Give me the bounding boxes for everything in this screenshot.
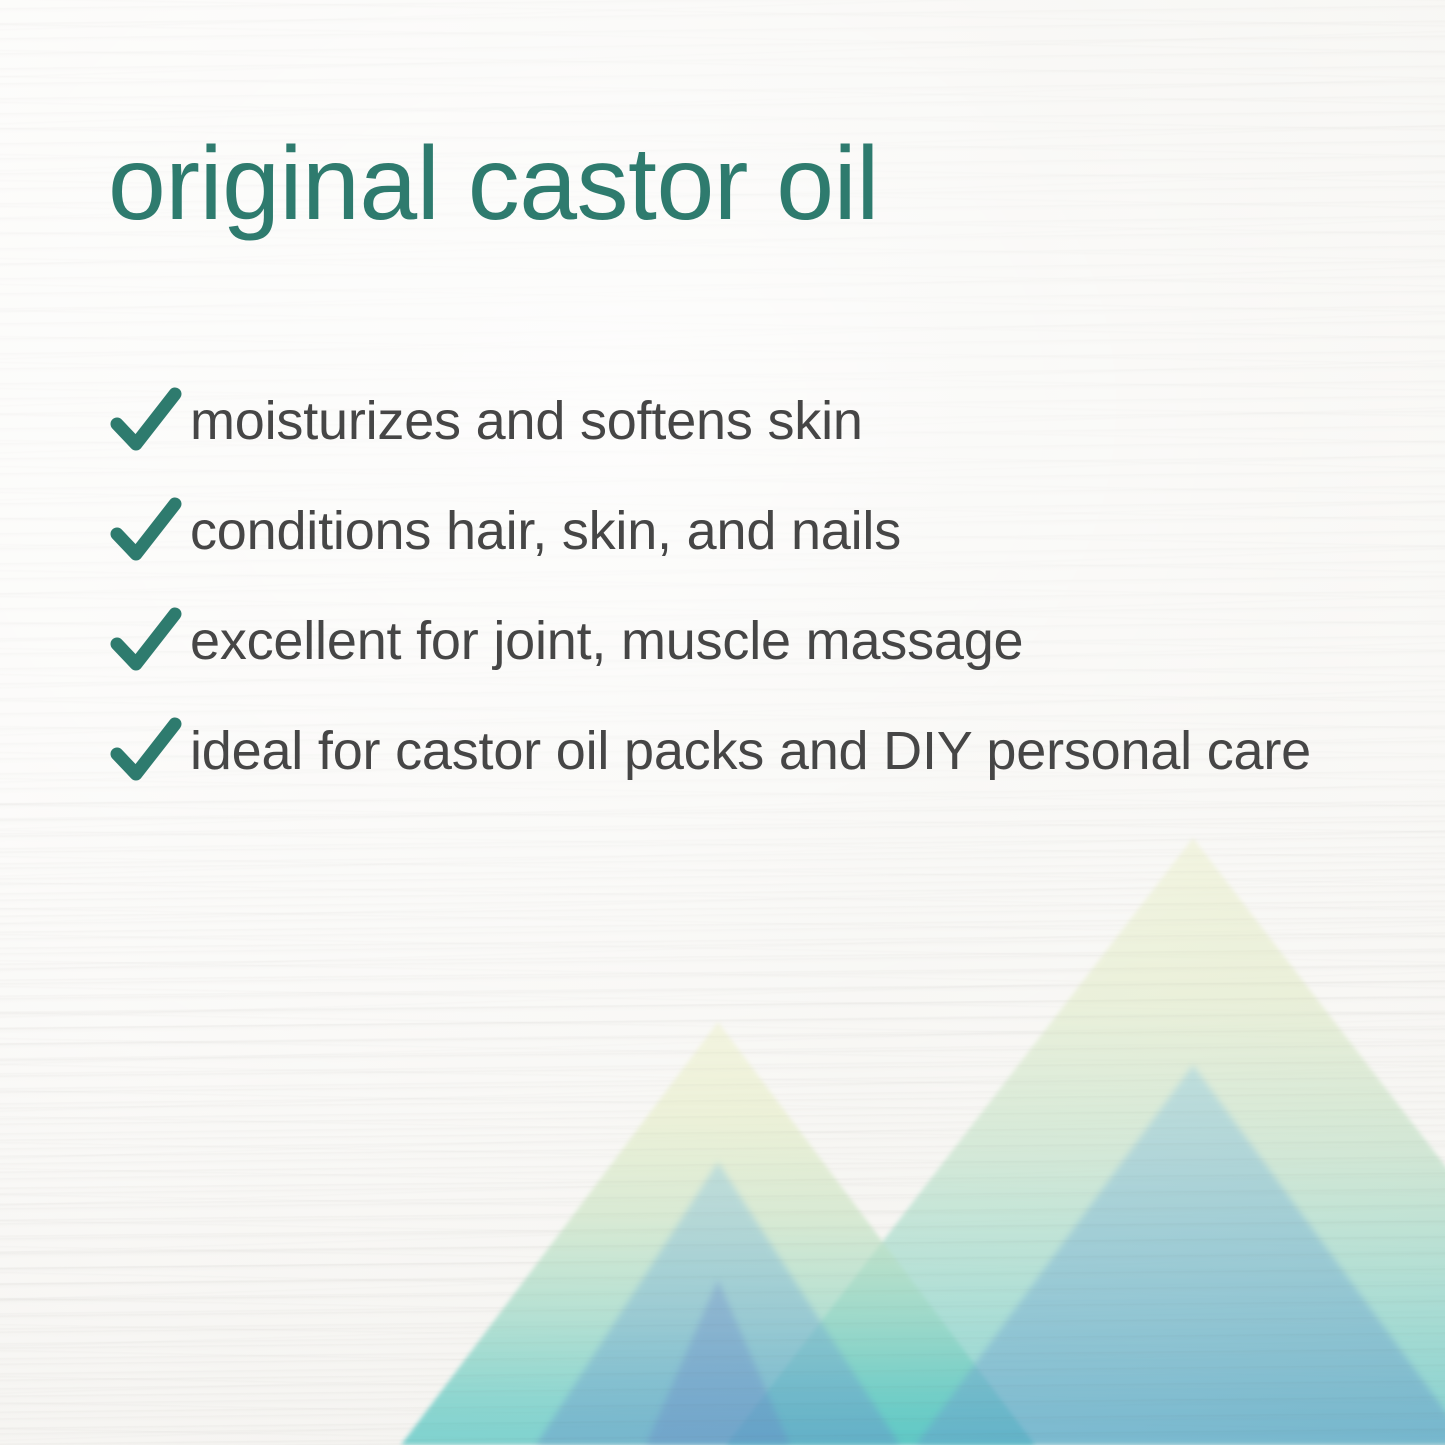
product-benefits-poster: original castor oil moisturizes and soft… bbox=[0, 0, 1445, 1445]
list-item: moisturizes and softens skin bbox=[110, 366, 1380, 476]
list-item-label: excellent for joint, muscle massage bbox=[190, 613, 1023, 670]
check-icon bbox=[110, 494, 182, 568]
list-item: ideal for castor oil packs and DIY perso… bbox=[110, 696, 1380, 806]
page-title: original castor oil bbox=[108, 129, 879, 239]
check-icon bbox=[110, 604, 182, 678]
list-item: excellent for joint, muscle massage bbox=[110, 586, 1380, 696]
list-item-label: moisturizes and softens skin bbox=[190, 393, 863, 450]
benefits-list: moisturizes and softens skin conditions … bbox=[110, 366, 1380, 806]
list-item-label: conditions hair, skin, and nails bbox=[190, 503, 901, 560]
list-item: conditions hair, skin, and nails bbox=[110, 476, 1380, 586]
check-icon bbox=[110, 714, 182, 788]
check-icon bbox=[110, 384, 182, 458]
list-item-label: ideal for castor oil packs and DIY perso… bbox=[190, 723, 1311, 780]
